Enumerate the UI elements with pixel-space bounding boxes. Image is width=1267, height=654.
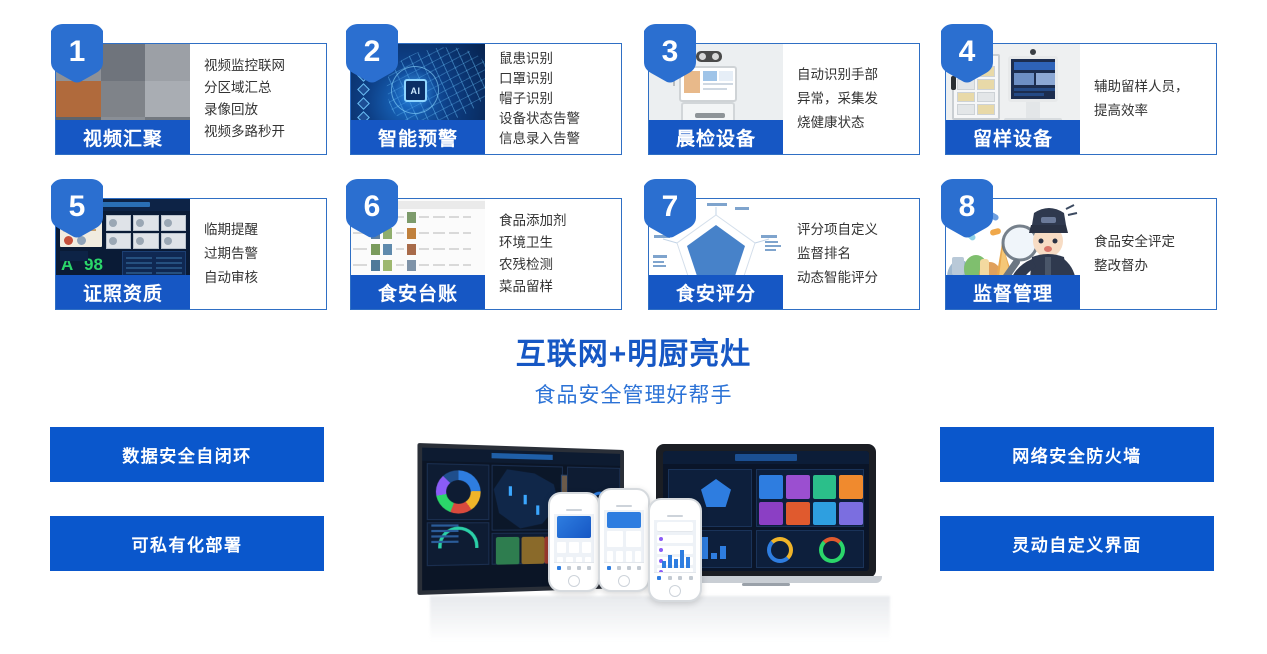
feature-item: 食品安全评定 bbox=[1094, 230, 1216, 254]
step-badge-4: 4 bbox=[939, 22, 995, 84]
feature-item: 帽子识别 bbox=[499, 89, 621, 109]
banner-data-security[interactable]: 数据安全自闭环 bbox=[50, 427, 324, 482]
card-feature-list-3: 自动识别手部 异常，采集发 烧健康状态 bbox=[783, 44, 919, 154]
banner-private-deployment[interactable]: 可私有化部署 bbox=[50, 516, 324, 571]
step-number-4: 4 bbox=[939, 22, 995, 84]
feature-item: 食品添加剂 bbox=[499, 210, 621, 232]
card-feature-list-5: 临期提醒 过期告警 自动审核 bbox=[190, 199, 326, 309]
feature-item: 评分项自定义 bbox=[797, 218, 919, 242]
step-badge-2: 2 bbox=[344, 22, 400, 84]
feature-card-2[interactable]: 2 AI 智能预警 鼠患识别 口罩识别 帽子识别 设备状态告警 信息录入告警 bbox=[350, 43, 622, 155]
banner-label: 数据安全自闭环 bbox=[122, 442, 252, 467]
banner-network-firewall[interactable]: 网络安全防火墙 bbox=[940, 427, 1214, 482]
step-badge-8: 8 bbox=[939, 177, 995, 239]
feature-item: 自动识别手部 bbox=[797, 63, 919, 87]
feature-item: 烧健康状态 bbox=[797, 111, 919, 135]
feature-item: 农残检测 bbox=[499, 254, 621, 276]
feature-item: 自动审核 bbox=[204, 266, 326, 290]
feature-item: 提高效率 bbox=[1094, 99, 1216, 123]
card-feature-list-8: 食品安全评定 整改督办 bbox=[1080, 199, 1216, 309]
feature-item: 口罩识别 bbox=[499, 69, 621, 89]
step-badge-5: 5 bbox=[49, 177, 105, 239]
feature-item: 录像回放 bbox=[204, 99, 326, 121]
feature-item: 监督排名 bbox=[797, 242, 919, 266]
card-label-6: 食安台账 bbox=[351, 275, 485, 309]
card-label-1: 视频汇聚 bbox=[56, 120, 190, 154]
smartphone-app-icon bbox=[548, 492, 600, 592]
feature-item: 分区域汇总 bbox=[204, 77, 326, 99]
feature-item: 设备状态告警 bbox=[499, 109, 621, 129]
feature-item: 动态智能评分 bbox=[797, 266, 919, 290]
feature-item: 视频监控联网 bbox=[204, 55, 326, 77]
feature-card-5[interactable]: 5 A 98 bbox=[55, 198, 327, 310]
smartphone-app-icon bbox=[648, 498, 702, 602]
step-number-1: 1 bbox=[49, 22, 105, 84]
banner-label: 灵动自定义界面 bbox=[1012, 531, 1142, 556]
banner-label: 可私有化部署 bbox=[132, 531, 243, 556]
banner-label: 网络安全防火墙 bbox=[1012, 442, 1142, 467]
feature-cards-grid: 1 视频汇聚 视频监控联网 分区域汇总 录像回放 视频多路秒开 2 bbox=[0, 0, 1267, 320]
card-feature-list-4: 辅助留样人员， 提高效率 bbox=[1080, 44, 1216, 154]
step-badge-7: 7 bbox=[642, 177, 698, 239]
feature-item: 整改督办 bbox=[1094, 254, 1216, 278]
feature-item: 信息录入告警 bbox=[499, 129, 621, 149]
page-title: 互联网+明厨亮灶 bbox=[0, 338, 1267, 373]
smartphone-app-icon bbox=[598, 488, 650, 592]
feature-item: 过期告警 bbox=[204, 242, 326, 266]
device-reflection bbox=[430, 596, 890, 654]
feature-item: 菜品留样 bbox=[499, 276, 621, 298]
feature-item: 鼠患识别 bbox=[499, 49, 621, 69]
feature-item: 环境卫生 bbox=[499, 232, 621, 254]
feature-card-3[interactable]: 3 晨检设备 自动识别手部 bbox=[648, 43, 920, 155]
card-label-3: 晨检设备 bbox=[649, 120, 783, 154]
card-feature-list-1: 视频监控联网 分区域汇总 录像回放 视频多路秒开 bbox=[190, 44, 326, 154]
step-badge-1: 1 bbox=[49, 22, 105, 84]
feature-card-7[interactable]: 7 bbox=[648, 198, 920, 310]
card-label-5: 证照资质 bbox=[56, 275, 190, 309]
feature-card-1[interactable]: 1 视频汇聚 视频监控联网 分区域汇总 录像回放 视频多路秒开 bbox=[55, 43, 327, 155]
feature-item: 辅助留样人员， bbox=[1094, 75, 1216, 99]
step-badge-3: 3 bbox=[642, 22, 698, 84]
feature-card-8[interactable]: 8 bbox=[945, 198, 1217, 310]
feature-item: 异常，采集发 bbox=[797, 87, 919, 111]
feature-item: 临期提醒 bbox=[204, 218, 326, 242]
device-mockup-group bbox=[420, 436, 890, 636]
step-number-3: 3 bbox=[642, 22, 698, 84]
banner-custom-ui[interactable]: 灵动自定义界面 bbox=[940, 516, 1214, 571]
step-number-6: 6 bbox=[344, 177, 400, 239]
card-feature-list-2: 鼠患识别 口罩识别 帽子识别 设备状态告警 信息录入告警 bbox=[485, 44, 621, 154]
card-feature-list-7: 评分项自定义 监督排名 动态智能评分 bbox=[783, 199, 919, 309]
card-label-8: 监督管理 bbox=[946, 275, 1080, 309]
feature-card-6[interactable]: 6 bbox=[350, 198, 622, 310]
step-number-5: 5 bbox=[49, 177, 105, 239]
step-number-2: 2 bbox=[344, 22, 400, 84]
feature-item: 视频多路秒开 bbox=[204, 121, 326, 143]
feature-card-4[interactable]: 4 bbox=[945, 43, 1217, 155]
ai-chip-label: AI bbox=[404, 79, 427, 102]
page-subtitle: 食品安全管理好帮手 bbox=[0, 383, 1267, 408]
card-label-4: 留样设备 bbox=[946, 120, 1080, 154]
card-feature-list-6: 食品添加剂 环境卫生 农残检测 菜品留样 bbox=[485, 199, 621, 309]
hero-title-block: 互联网+明厨亮灶 食品安全管理好帮手 bbox=[0, 338, 1267, 408]
step-badge-6: 6 bbox=[344, 177, 400, 239]
card-label-7: 食安评分 bbox=[649, 275, 783, 309]
step-number-8: 8 bbox=[939, 177, 995, 239]
step-number-7: 7 bbox=[642, 177, 698, 239]
card-label-2: 智能预警 bbox=[351, 120, 485, 154]
